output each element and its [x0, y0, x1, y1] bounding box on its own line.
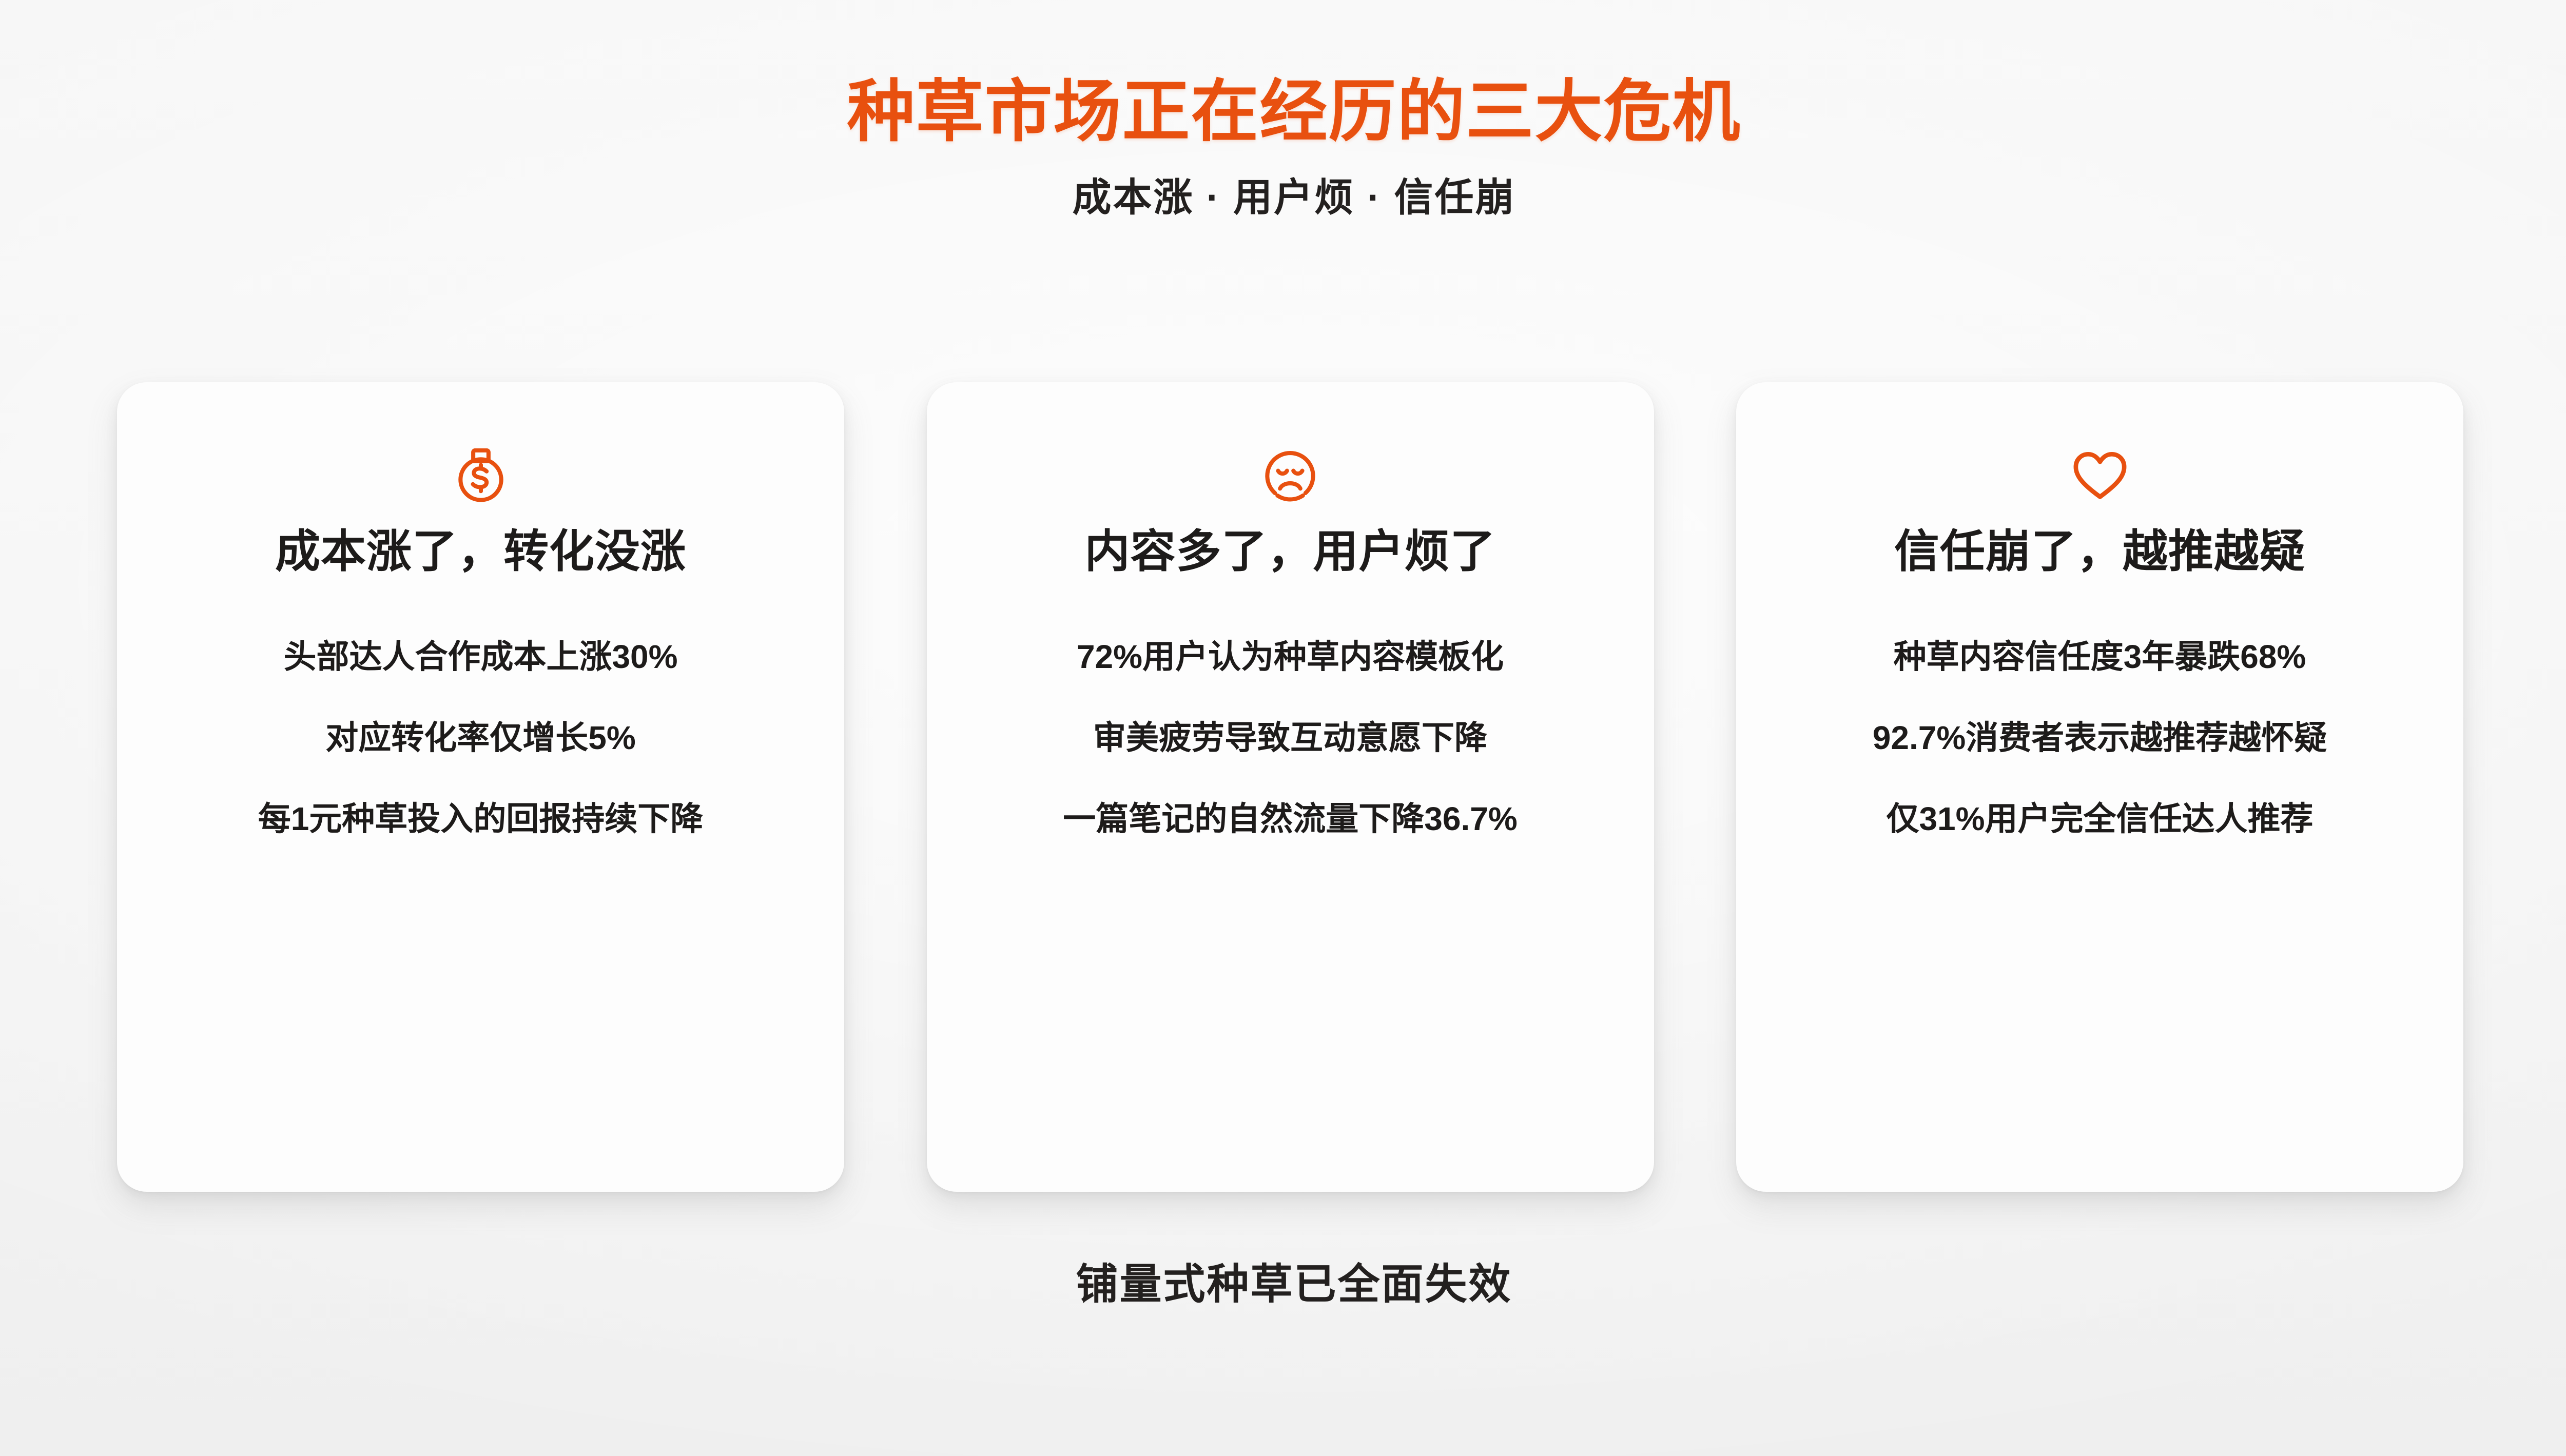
card-stat-line: 审美疲劳导致互动意愿下降: [1093, 717, 1487, 758]
page-subtitle: 成本涨 · 用户烦 · 信任崩: [0, 152, 2566, 221]
card-title: 信任崩了，越推越疑: [1894, 524, 2305, 579]
header: 种草市场正在经历的三大危机 成本涨 · 用户烦 · 信任崩: [0, 0, 2566, 221]
card-stat-list: 头部达人合作成本上涨30% 对应转化率仅增长5% 每1元种草投入的回报持续下降: [146, 636, 815, 839]
card-stat-list: 种草内容信任度3年暴跌68% 92.7%消费者表示越推荐越怀疑 仅31%用户完全…: [1765, 636, 2435, 839]
heart-outline-icon: [2068, 443, 2132, 506]
card-stat-list: 72%用户认为种草内容模板化 审美疲劳导致互动意愿下降 一篇笔记的自然流量下降3…: [956, 636, 1625, 839]
crisis-card-fatigue[interactable]: 内容多了，用户烦了 72%用户认为种草内容模板化 审美疲劳导致互动意愿下降 一篇…: [927, 382, 1654, 1192]
card-stat-line: 一篇笔记的自然流量下降36.7%: [1063, 798, 1517, 839]
crisis-card-cost[interactable]: 成本涨了，转化没涨 头部达人合作成本上涨30% 对应转化率仅增长5% 每1元种草…: [117, 382, 844, 1192]
card-stat-line: 头部达人合作成本上涨30%: [283, 636, 677, 677]
card-stat-line: 种草内容信任度3年暴跌68%: [1894, 636, 2306, 677]
card-stat-line: 72%用户认为种草内容模板化: [1077, 636, 1504, 677]
card-stat-line: 92.7%消费者表示越推荐越怀疑: [1873, 717, 2327, 758]
page-title: 种草市场正在经历的三大危机: [0, 0, 2566, 152]
card-stat-line: 仅31%用户完全信任达人推荐: [1886, 798, 2313, 839]
crisis-card-trust[interactable]: 信任崩了，越推越疑 种草内容信任度3年暴跌68% 92.7%消费者表示越推荐越怀…: [1736, 382, 2463, 1192]
money-bag-icon: [449, 443, 513, 506]
card-stat-line: 每1元种草投入的回报持续下降: [258, 798, 704, 839]
footer-conclusion: 铺量式种草已全面失效: [0, 1260, 2566, 1310]
slide-root: 种草市场正在经历的三大危机 成本涨 · 用户烦 · 信任崩 成本涨了，转化没涨 …: [0, 0, 2566, 1456]
weary-face-icon: [1258, 443, 1322, 506]
card-title: 成本涨了，转化没涨: [275, 524, 686, 579]
footer: 铺量式种草已全面失效: [0, 1260, 2566, 1310]
crisis-card-grid: 成本涨了，转化没涨 头部达人合作成本上涨30% 对应转化率仅增长5% 每1元种草…: [117, 382, 2463, 1192]
card-title: 内容多了，用户烦了: [1084, 524, 1495, 579]
card-stat-line: 对应转化率仅增长5%: [325, 717, 636, 758]
